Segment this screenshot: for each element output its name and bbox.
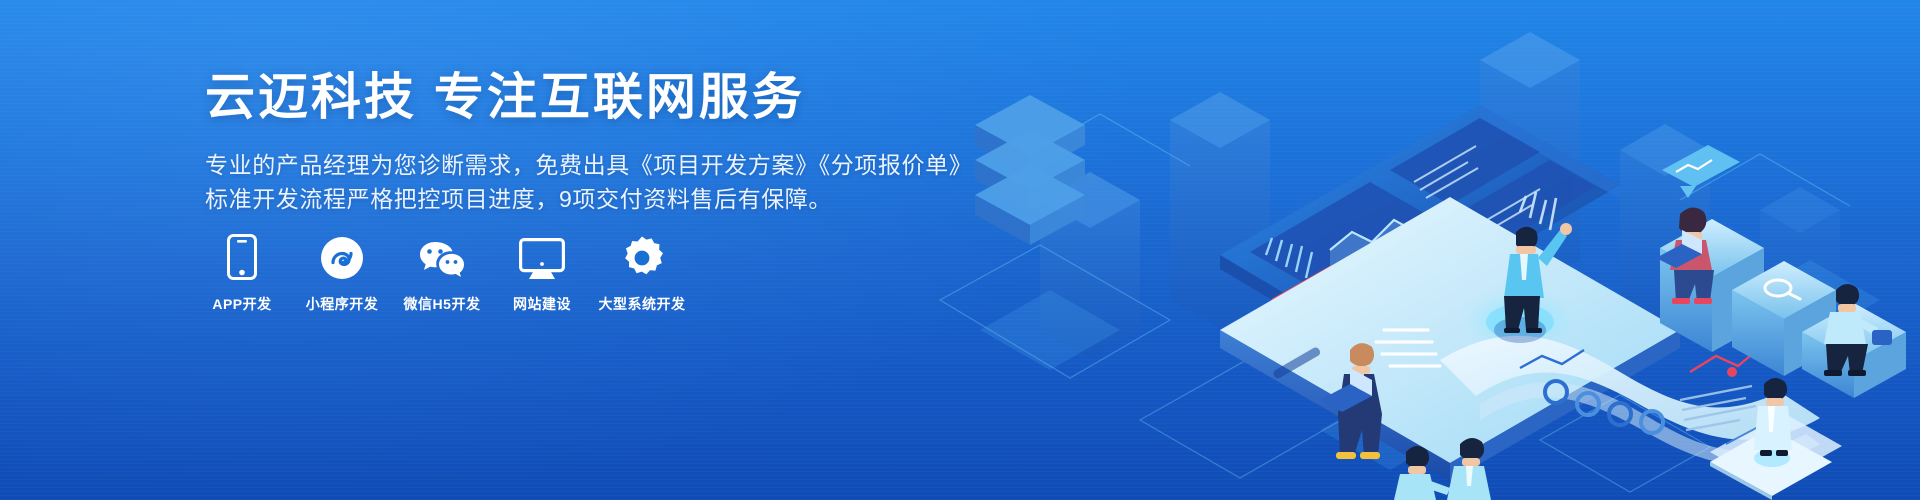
service-item-website[interactable]: 网站建设 xyxy=(505,232,579,314)
service-item-large-system[interactable]: 大型系统开发 xyxy=(605,232,679,314)
service-label: 小程序开发 xyxy=(306,294,379,314)
isometric-illustration xyxy=(920,0,1920,500)
subtitle-line-2: 标准开发流程严格把控项目进度，9项交付资料售后有保障。 xyxy=(205,182,965,216)
service-label: 大型系统开发 xyxy=(599,294,686,314)
service-label: 微信H5开发 xyxy=(404,294,481,314)
mobile-phone-icon xyxy=(227,232,257,280)
service-item-mini-program[interactable]: 小程序开发 xyxy=(305,232,379,314)
wechat-icon xyxy=(417,232,467,280)
subtitle-line-1: 专业的产品经理为您诊断需求，免费出具《项目开发方案》《分项报价单》 xyxy=(205,148,965,182)
hero-subtitle: 专业的产品经理为您诊断需求，免费出具《项目开发方案》《分项报价单》 标准开发流程… xyxy=(205,148,965,216)
hero-copy: 云迈科技 专注互联网服务 专业的产品经理为您诊断需求，免费出具《项目开发方案》《… xyxy=(205,68,965,216)
service-item-app[interactable]: APP开发 xyxy=(205,232,279,314)
gear-icon xyxy=(620,232,664,280)
mini-program-icon xyxy=(320,232,364,280)
page-title: 云迈科技 专注互联网服务 xyxy=(205,68,965,127)
monitor-icon xyxy=(519,232,565,280)
service-label: 网站建设 xyxy=(513,294,571,314)
service-item-wechat-h5[interactable]: 微信H5开发 xyxy=(405,232,479,314)
server-stack xyxy=(975,95,1085,245)
service-list: APP开发 小程序开发 xyxy=(205,232,679,314)
hero-banner: 云迈科技 专注互联网服务 专业的产品经理为您诊断需求，免费出具《项目开发方案》《… xyxy=(0,0,1920,500)
service-label: APP开发 xyxy=(212,294,271,314)
